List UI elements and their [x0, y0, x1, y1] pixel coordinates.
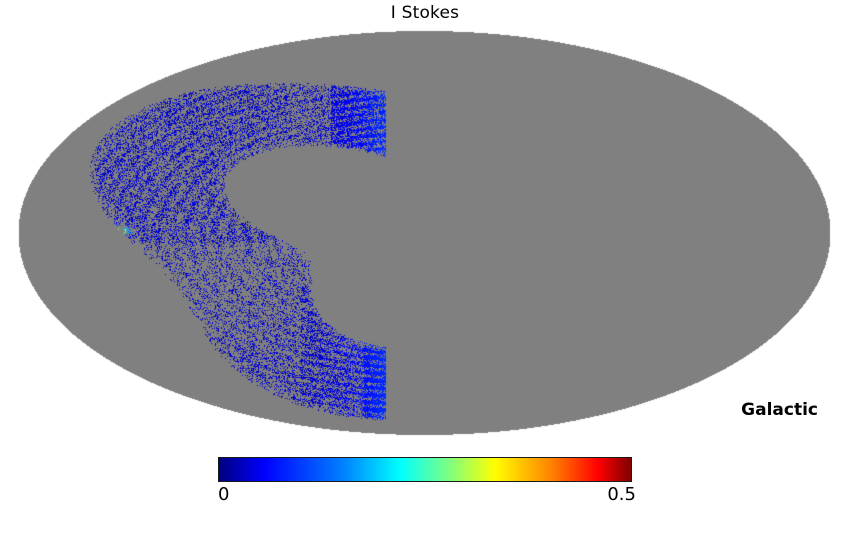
colorbar-gradient	[218, 457, 632, 482]
colorbar-max-tick-label: 0.5	[607, 484, 636, 505]
page-title: I Stokes	[0, 3, 850, 23]
coordinate-system-label: Galactic	[741, 400, 818, 420]
colorbar-min-tick-label: 0	[218, 484, 229, 505]
sky-map-figure: I Stokes Galactic 0 0.5	[0, 0, 850, 540]
colorbar[interactable]: 0 0.5	[218, 457, 632, 482]
